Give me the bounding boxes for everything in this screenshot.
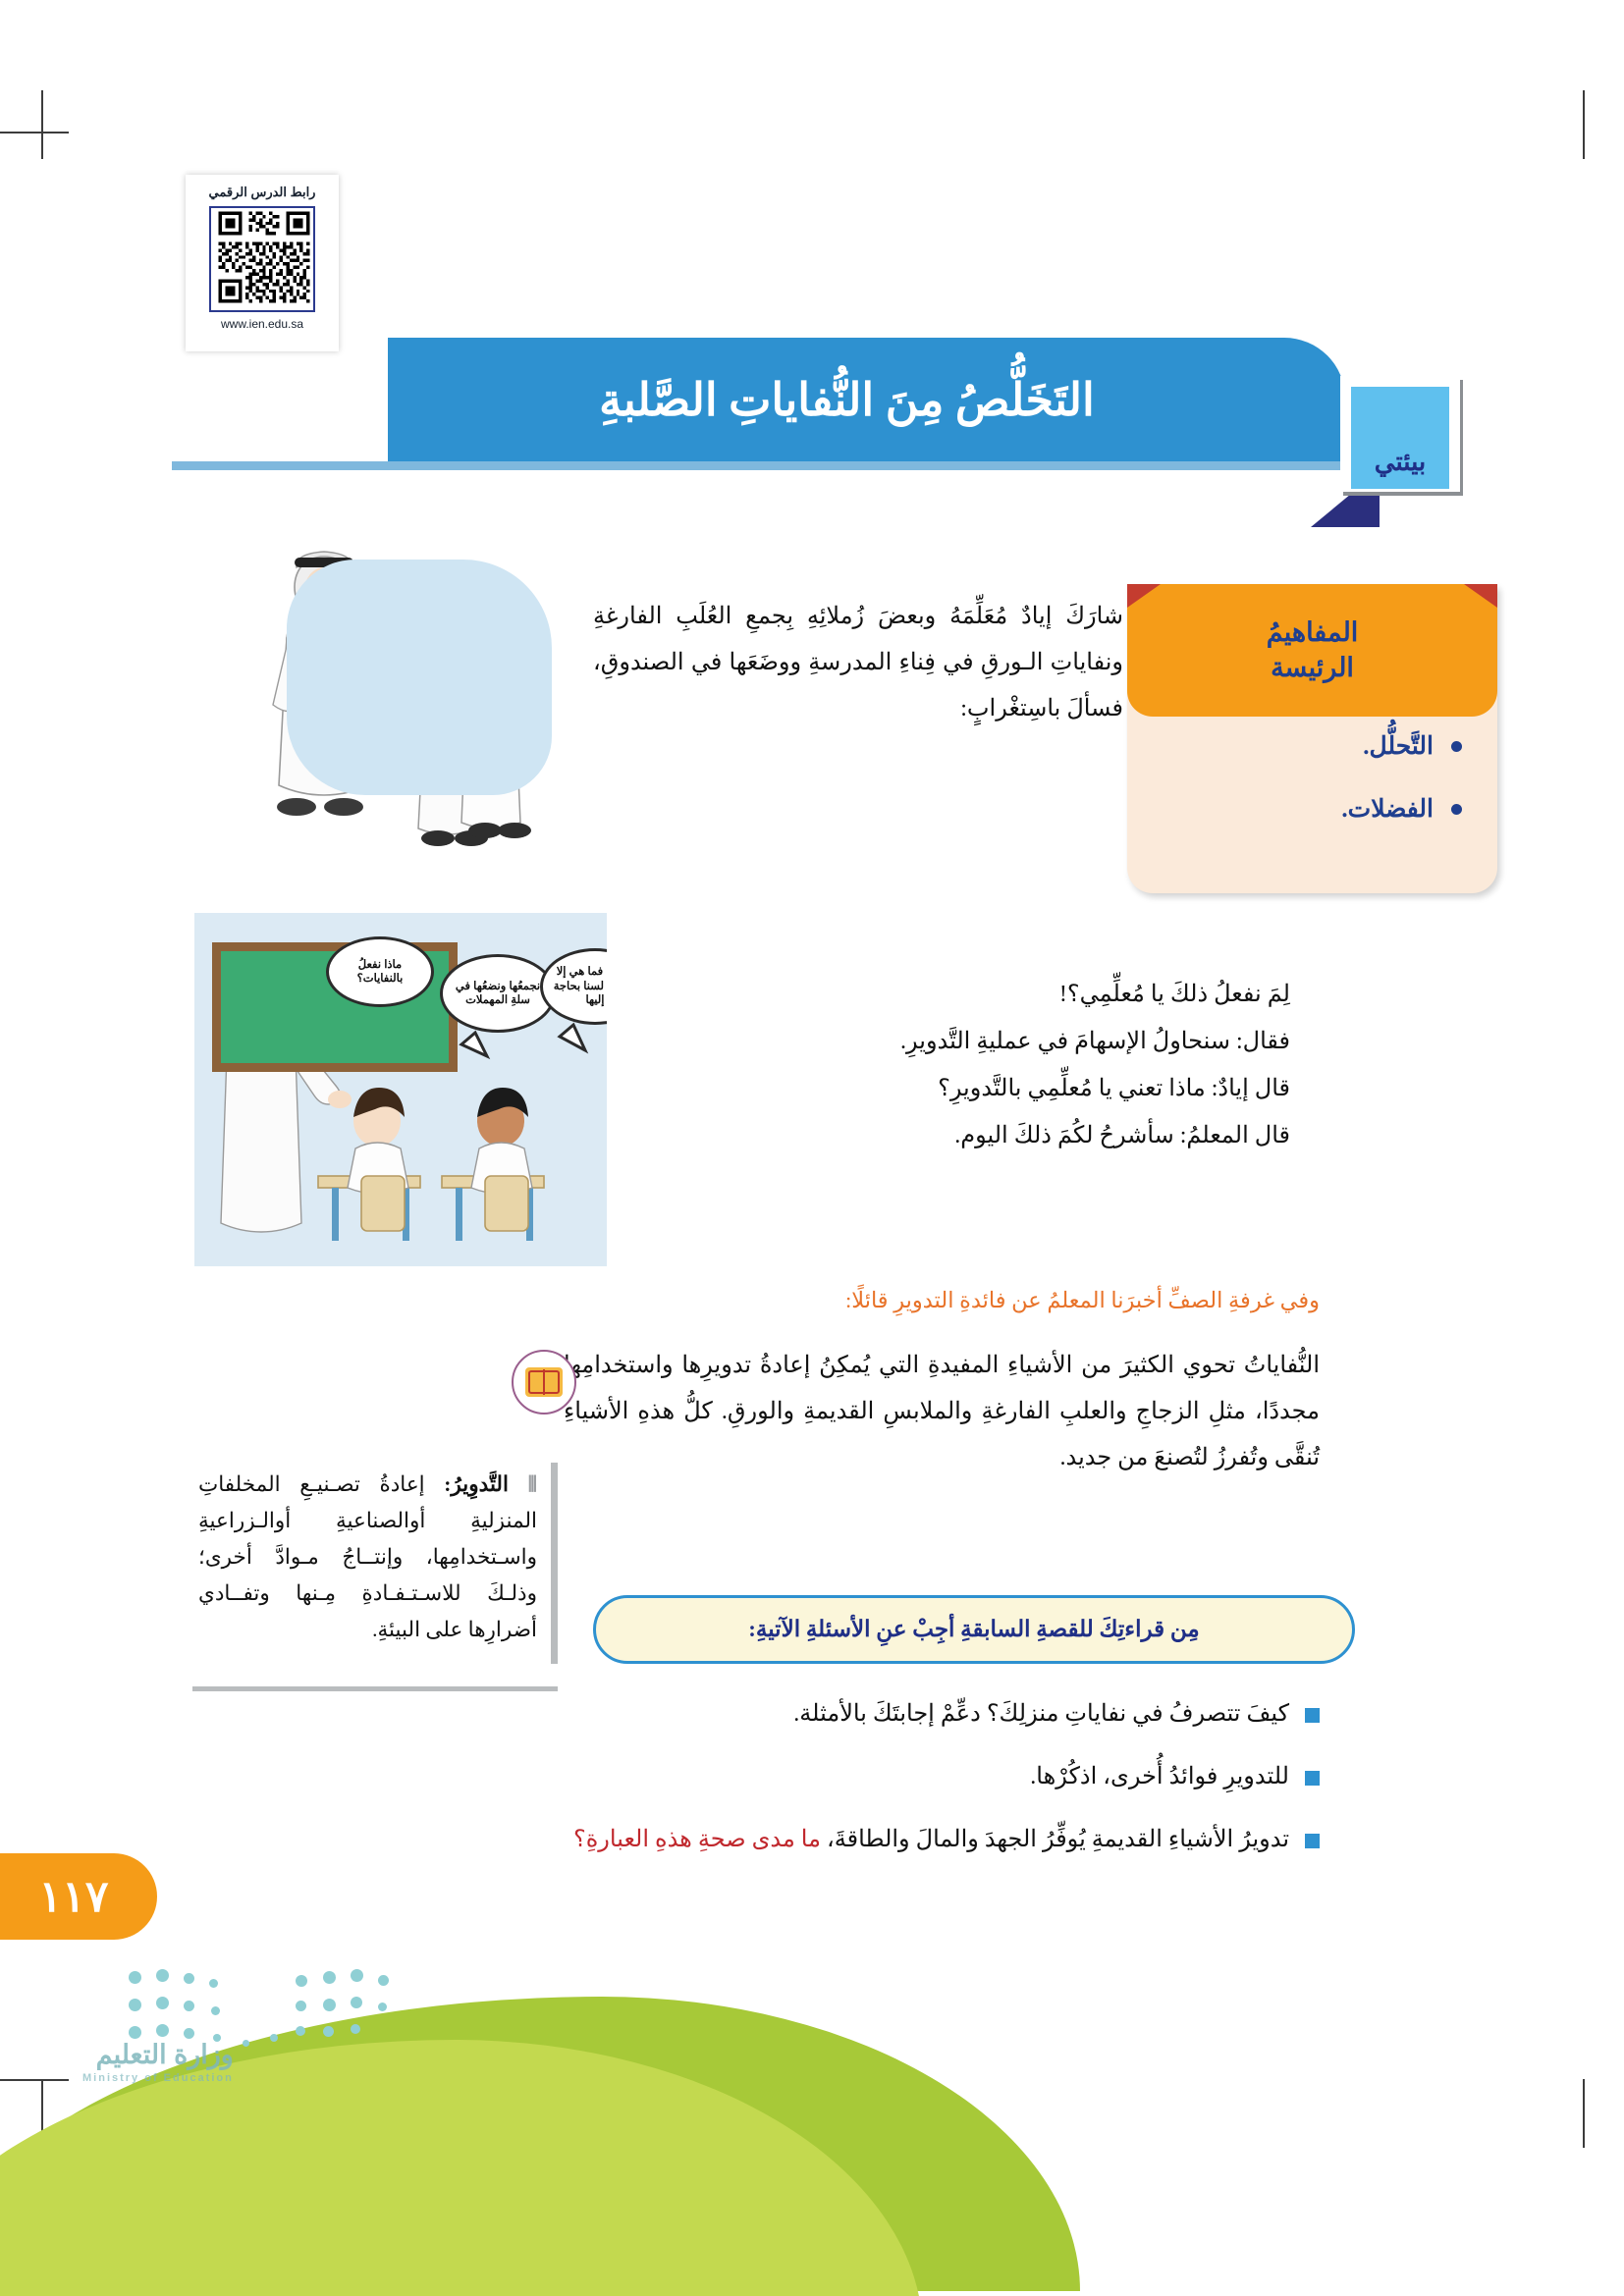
- dialogue-line: فقال: سنحاولُ الإسهامَ في عمليةِ التَّدو…: [564, 1019, 1290, 1064]
- questions-list: كيفَ تتصرفُ في نفاياتِ منزلِكَ؟ دعِّمْ إ…: [259, 1696, 1320, 1885]
- ministry-name-ar: وزارة التعليم: [96, 2040, 234, 2069]
- teacher-narration-highlight: وفي غرفةِ الصفِّ أخبرَنا المعلمُ عن فائد…: [564, 1281, 1320, 1321]
- question-text-emphasis: ما مدى صحةِ هذهِ العبارةِ؟: [573, 1827, 821, 1852]
- open-book-icon: [512, 1350, 576, 1415]
- list-item: كيفَ تتصرفُ في نفاياتِ منزلِكَ؟ دعِّمْ إ…: [259, 1696, 1320, 1732]
- recycling-main-paragraph: النُّفاياتُ تحوي الكثيرَ من الأشياءِ الم…: [564, 1343, 1320, 1480]
- textbook-page: رابط الدرس الرقمي: [0, 0, 1624, 2296]
- glossary-text: ⦀ التَّدوِيرُ: إعادةُ تصـنيـعِ المخلفاتِ…: [198, 1467, 537, 1648]
- question-text: للتدويرِ فوائدُ أُخرى، اذكُرْها.: [1030, 1759, 1289, 1794]
- illustration-classroom-dialogue: ماذا نفعلُ بالنفايات؟ نجمعُها ونضعُها في…: [194, 913, 607, 1266]
- questions-prompt-box: مِن قراءتِكَ للقصةِ السابقةِ أجِبْ عنِ ا…: [593, 1595, 1355, 1664]
- glossary-term: التَّدوِيرُ:: [444, 1472, 509, 1496]
- illustration-background-blob: [287, 560, 552, 795]
- bullet-dot-icon: [1451, 804, 1462, 815]
- dialogue-line: لِمَ نفعلُ ذلكَ يا مُعلِّمِي؟!: [564, 972, 1290, 1017]
- unit-tab-label: بيئتي: [1375, 447, 1426, 477]
- illustration-teacher-box-students: [228, 530, 581, 854]
- key-concepts-header: المفاهيمُ الرئيسة: [1127, 584, 1497, 717]
- unit-tab[interactable]: بيئتي: [1351, 387, 1449, 489]
- list-item: تدويرُ الأشياءِ القديمةِ يُوفِّرُ الجهدَ…: [259, 1822, 1320, 1857]
- question-text: تدويرُ الأشياءِ القديمةِ يُوفِّرُ الجهدَ…: [821, 1827, 1289, 1852]
- glossary-bottom-rule: [192, 1686, 558, 1691]
- square-bullet-icon: [1305, 1834, 1320, 1848]
- crop-mark-left-top: [0, 132, 69, 133]
- page-footer: وزارة التعليم Ministry of Education: [0, 1924, 1624, 2296]
- crop-mark-top-right: [1583, 90, 1585, 159]
- lesson-title-banner: التَخَلُّصُ مِنَ النُّفاياتِ الصَّلبةِ: [388, 338, 1345, 461]
- square-bullet-icon: [1305, 1708, 1320, 1723]
- qr-code-icon[interactable]: [209, 206, 315, 312]
- dialogue-block: لِمَ نفعلُ ذلكَ يا مُعلِّمِي؟! فقال: سنح…: [564, 972, 1290, 1160]
- key-concept-label: التَّحلُّل.: [1363, 731, 1434, 761]
- dialogue-line: قال المعلمُ: سأشرحُ لكُمَ ذلكَ اليوم.: [564, 1113, 1290, 1158]
- list-item: للتدويرِ فوائدُ أُخرى، اذكُرْها.: [259, 1759, 1320, 1794]
- bullet-dot-icon: [1451, 741, 1462, 752]
- square-bullet-icon: [1305, 1771, 1320, 1786]
- ministry-logo-watermark: وزارة التعليم Ministry of Education: [82, 2040, 234, 2084]
- speech-bubble-teacher: ماذا نفعلُ بالنفايات؟: [326, 936, 434, 1007]
- crop-mark-top-left: [41, 90, 43, 159]
- open-book-icon-inner: [525, 1367, 563, 1397]
- qr-caption: رابط الدرس الرقمي: [209, 185, 316, 200]
- list-item: التَّحلُّل.: [1127, 731, 1462, 761]
- page-title: التَخَلُّصُ مِنَ النُّفاياتِ الصَّلبةِ: [388, 338, 1345, 461]
- digital-lesson-qr-card[interactable]: رابط الدرس الرقمي: [186, 175, 339, 351]
- key-concepts-title-line-2: الرئيسة: [1271, 651, 1354, 685]
- question-text-mixed: تدويرُ الأشياءِ القديمةِ يُوفِّرُ الجهدَ…: [573, 1822, 1289, 1857]
- question-text: كيفَ تتصرفُ في نفاياتِ منزلِكَ؟ دعِّمْ إ…: [793, 1696, 1289, 1732]
- list-item: الفضلات.: [1127, 794, 1462, 824]
- dogear-left-icon: [1127, 584, 1161, 608]
- glossary-definition-box: ⦀ التَّدوِيرُ: إعادةُ تصـنيـعِ المخلفاتِ…: [192, 1463, 558, 1664]
- dialogue-line: قال إيادٌ: ماذا تعني يا مُعلِّمِي بالتَّ…: [564, 1066, 1290, 1111]
- key-concepts-list: التَّحلُّل. الفضلات.: [1127, 731, 1497, 857]
- key-concept-label: الفضلات.: [1341, 794, 1434, 824]
- glossary-definition: إعادةُ تصـنيـعِ المخلفاتِ المنزليةِ أوال…: [198, 1472, 537, 1641]
- banner-underline: [172, 461, 1345, 470]
- quote-marks-icon: ⦀: [528, 1472, 537, 1496]
- qr-url-label: www.ien.edu.sa: [221, 317, 303, 331]
- dogear-right-icon: [1464, 584, 1497, 608]
- key-concepts-card: المفاهيمُ الرئيسة التَّحلُّل. الفضلات.: [1127, 584, 1497, 893]
- key-concepts-title-line-1: المفاهيمُ: [1267, 615, 1359, 650]
- ministry-name-en: Ministry of Education: [82, 2072, 234, 2084]
- intro-paragraph: شارَكَ إيادٌ مُعَلِّمَهُ وبعضَ زُملائِهِ…: [593, 594, 1123, 731]
- speech-bubble-student-1: نجمعُها ونضعُها في سلةِ المهملات: [440, 954, 556, 1033]
